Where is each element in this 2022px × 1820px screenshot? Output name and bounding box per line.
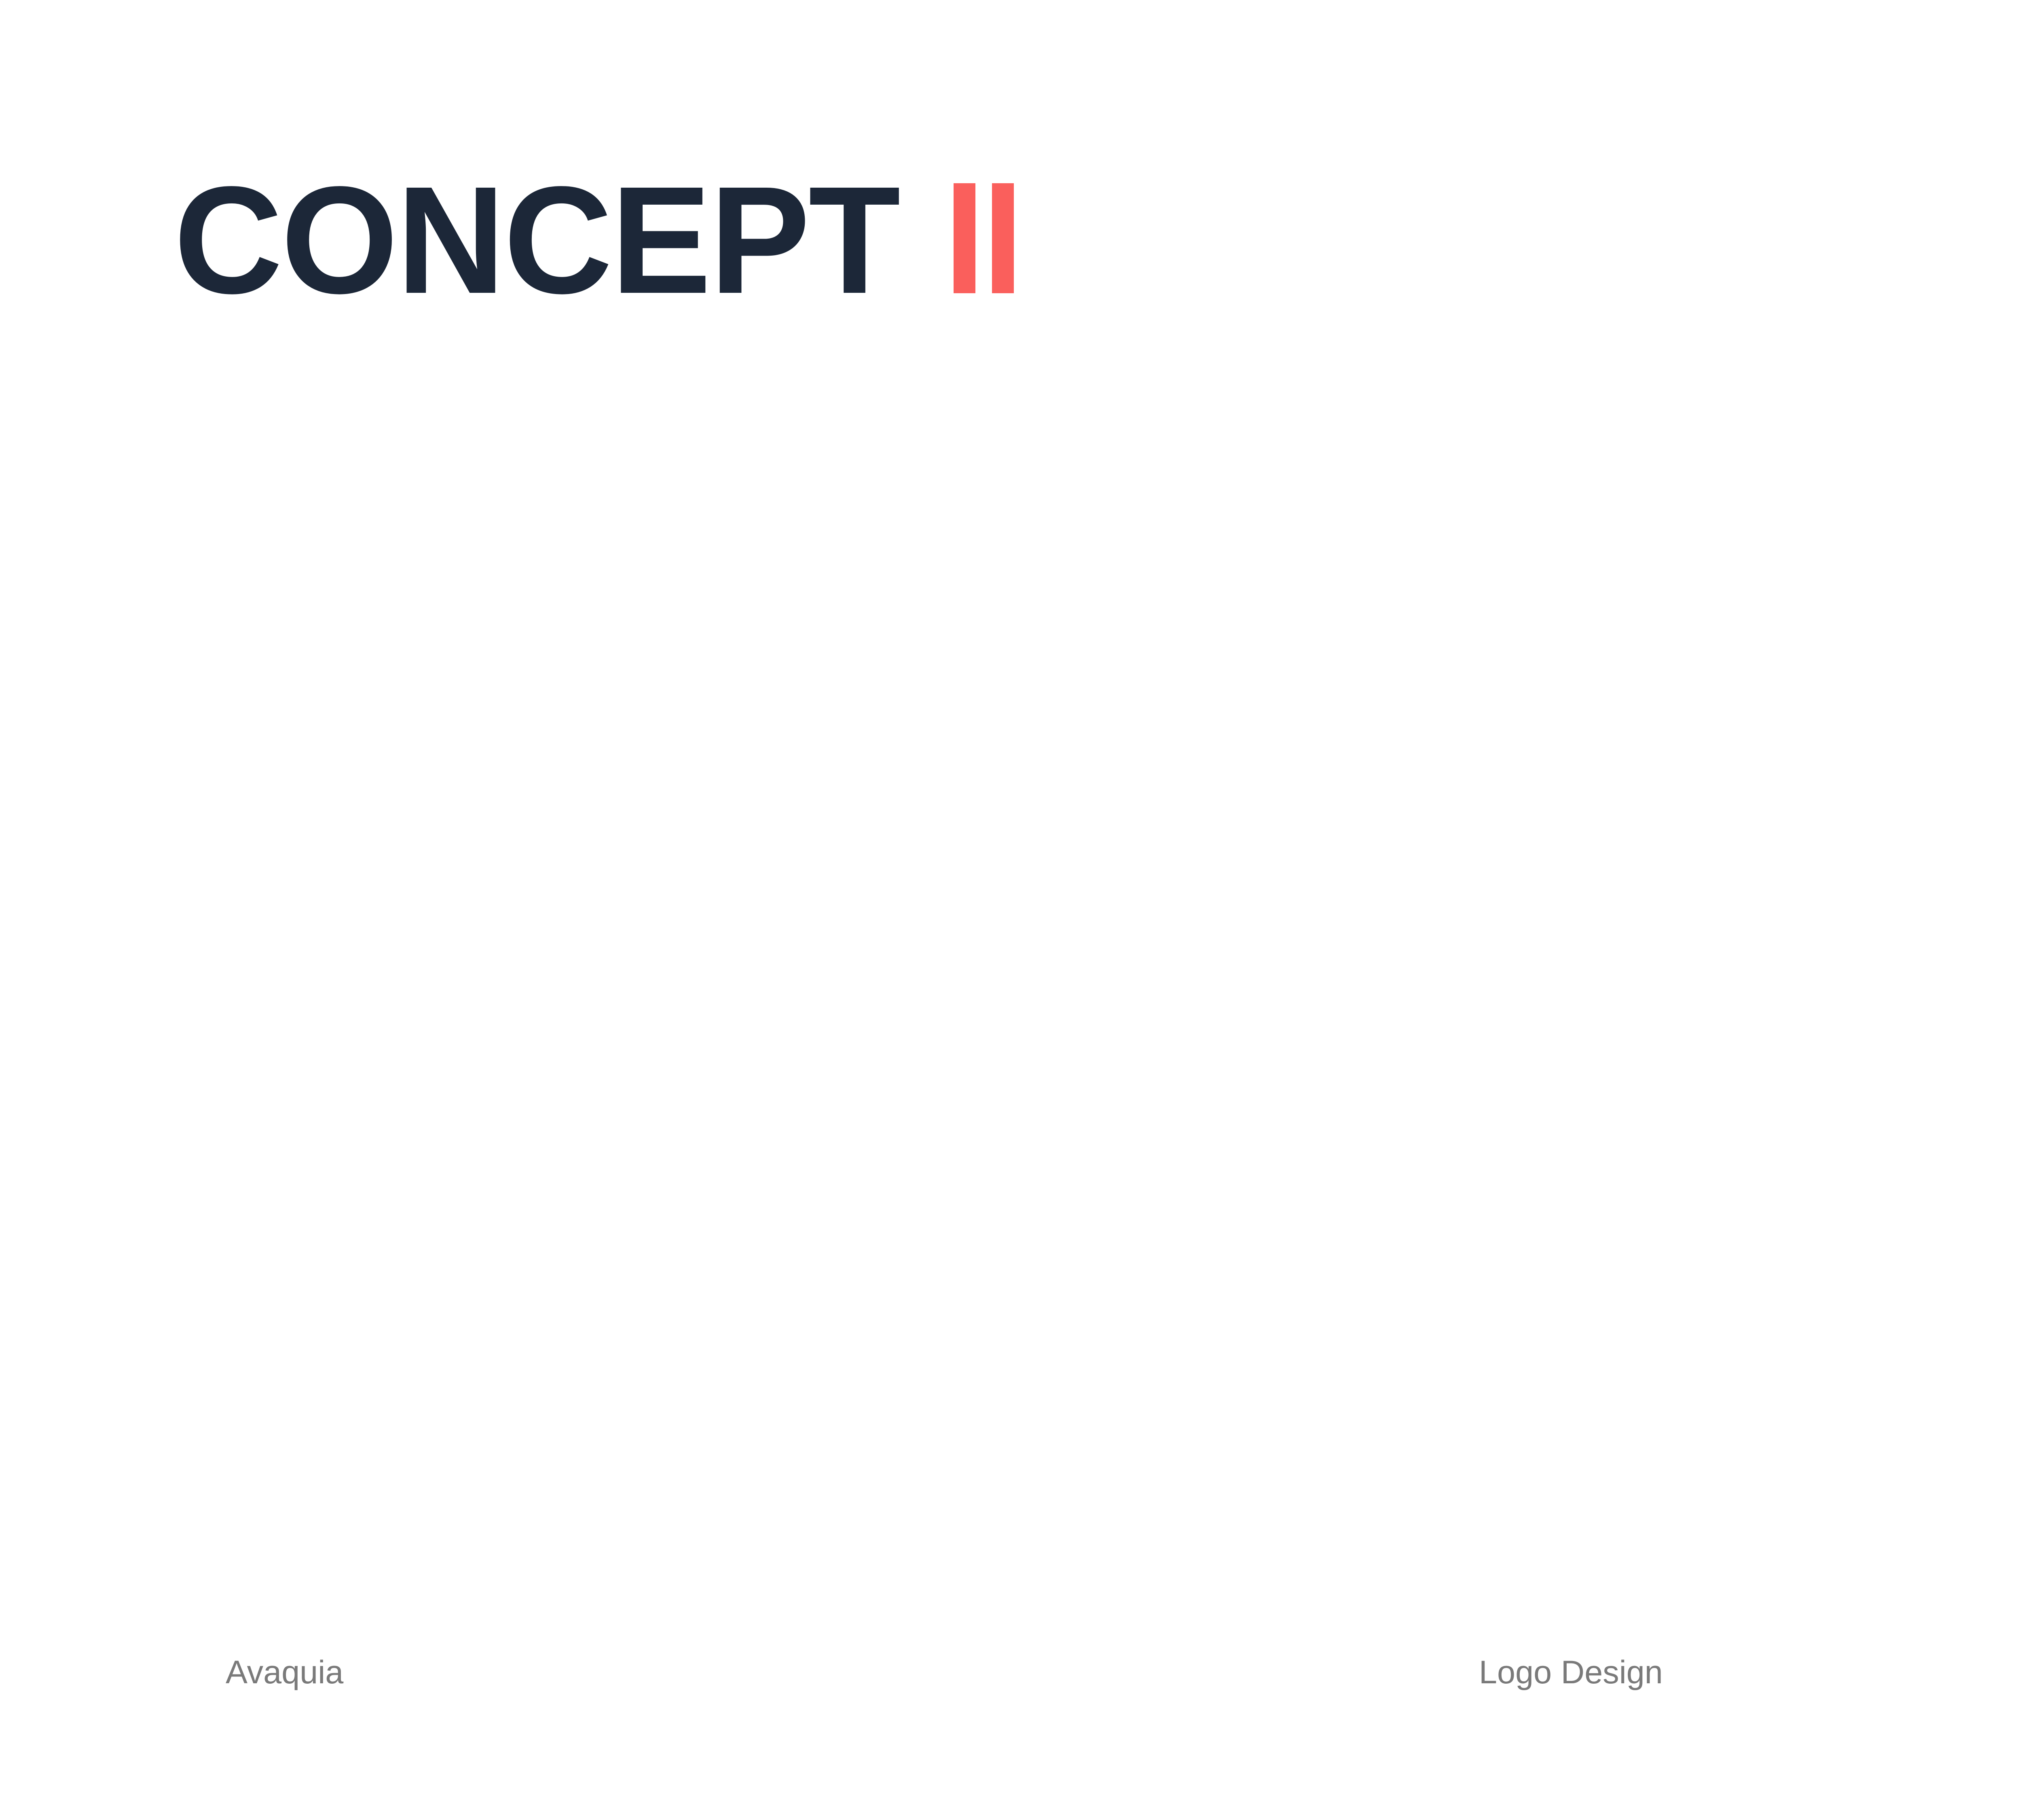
accent-bars-mark	[954, 162, 1014, 293]
accent-bar-second	[992, 183, 1014, 293]
footer: Avaquia Logo Design Twenty24	[0, 1650, 2022, 1695]
logo-lockup: CONCEPT	[174, 162, 1014, 295]
brand-wordmark: CONCEPT	[174, 162, 899, 295]
footer-project-type: Logo Design	[1479, 1650, 1663, 1695]
accent-bar-first	[954, 183, 975, 293]
footer-client-name: Avaquia	[226, 1650, 343, 1695]
logo-presentation-canvas: CONCEPT Avaquia Logo Design Twenty24	[0, 0, 2022, 1820]
